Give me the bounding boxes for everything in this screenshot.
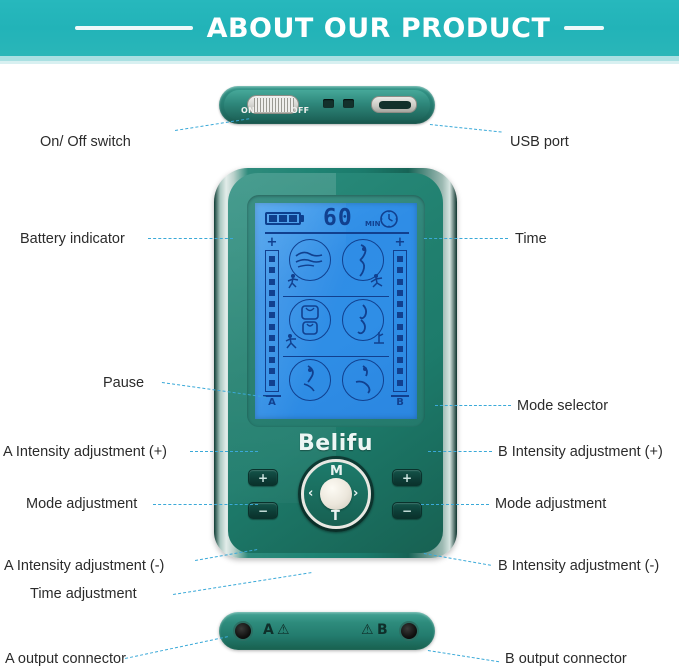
intensity-segment bbox=[397, 312, 403, 318]
intensity-segment bbox=[397, 357, 403, 363]
b-intensity-plus-button[interactable]: + bbox=[392, 469, 422, 486]
intensity-bar-b: + B bbox=[389, 237, 411, 413]
intensity-segment bbox=[397, 335, 403, 341]
callout-time: Time bbox=[515, 231, 547, 247]
header-rule-right bbox=[564, 26, 604, 30]
leader-b-intensity-plus bbox=[428, 451, 492, 452]
callout-mode-adjustment-right: Mode adjustment bbox=[495, 496, 606, 512]
battery-segment bbox=[269, 215, 277, 222]
battery-indicator bbox=[265, 212, 301, 225]
mode-cell-massage-cup bbox=[285, 299, 333, 347]
page-header: ABOUT OUR PRODUCT bbox=[0, 0, 679, 56]
mode-cell-massage-ear bbox=[285, 359, 333, 407]
mode-cell-massage-shiatsu bbox=[338, 299, 386, 347]
callout-mode-adjustment-left: Mode adjustment bbox=[26, 496, 137, 512]
intensity-segment bbox=[269, 312, 275, 318]
b-output-connector[interactable] bbox=[399, 621, 419, 641]
intensity-segment bbox=[397, 290, 403, 296]
leader-time-adjustment bbox=[173, 572, 311, 595]
intensity-segment bbox=[269, 267, 275, 273]
usb-port[interactable] bbox=[371, 96, 417, 113]
callout-usb-port: USB port bbox=[510, 134, 569, 150]
intensity-segment bbox=[269, 335, 275, 341]
intensity-segment bbox=[269, 301, 275, 307]
mode-figure-icon bbox=[285, 273, 301, 289]
callout-a-intensity-plus: A Intensity adjustment (+) bbox=[3, 444, 167, 460]
switch-on-label: ON bbox=[241, 106, 255, 115]
a-connector-label: A bbox=[263, 623, 274, 637]
battery-segment bbox=[289, 215, 297, 222]
intensity-a-column bbox=[265, 250, 279, 392]
callout-battery-indicator: Battery indicator bbox=[20, 231, 125, 247]
callout-a-intensity-minus: A Intensity adjustment (-) bbox=[4, 558, 164, 574]
callout-time-adjustment: Time adjustment bbox=[30, 586, 137, 602]
dpad-mode-key[interactable]: M bbox=[330, 465, 343, 478]
lcd-screen: 60 MIN + bbox=[255, 203, 417, 419]
mode-icon-massage-scrape bbox=[342, 359, 384, 401]
device-main-body: 60 MIN + bbox=[214, 168, 457, 558]
warning-icon-a: ⚠ bbox=[277, 623, 290, 637]
dpad-center-button[interactable] bbox=[320, 478, 352, 510]
leader-mode-selector bbox=[435, 405, 511, 406]
leader-a-output-connector bbox=[125, 636, 228, 659]
switch-ridges bbox=[254, 98, 294, 112]
intensity-segment bbox=[397, 346, 403, 352]
mode-cell-massage-scrape bbox=[338, 359, 386, 407]
intensity-segment bbox=[397, 324, 403, 330]
intensity-segment bbox=[269, 346, 275, 352]
b-intensity-minus-button[interactable]: − bbox=[392, 502, 422, 519]
callout-pause: Pause bbox=[103, 375, 144, 391]
warning-icon-b: ⚠ bbox=[361, 623, 374, 637]
intensity-segment bbox=[397, 256, 403, 262]
intensity-segment bbox=[269, 357, 275, 363]
mode-icon-massage-ear bbox=[289, 359, 331, 401]
time-value: 60 bbox=[323, 207, 353, 230]
intensity-segment bbox=[397, 380, 403, 386]
intensity-b-label: B bbox=[389, 397, 411, 408]
intensity-b-column bbox=[393, 250, 407, 392]
callout-mode-selector: Mode selector bbox=[517, 398, 608, 414]
intensity-segment bbox=[269, 279, 275, 285]
mode-row bbox=[283, 356, 389, 416]
callout-b-output-connector: B output connector bbox=[505, 651, 627, 667]
device-top-edge: ON OFF bbox=[219, 86, 435, 124]
intensity-segment bbox=[269, 368, 275, 374]
leader-b-output-connector bbox=[428, 650, 499, 662]
battery-segment bbox=[279, 215, 287, 222]
callout-a-output-connector: A output connector bbox=[5, 651, 126, 667]
mode-figure-icon bbox=[372, 331, 386, 347]
leader-mode-adjustment-right bbox=[421, 504, 489, 505]
intensity-segment bbox=[397, 279, 403, 285]
intensity-segment bbox=[397, 368, 403, 374]
dpad-control[interactable]: M T ‹ › bbox=[298, 456, 374, 532]
mode-grid bbox=[283, 237, 389, 415]
device-bottom-edge: A ⚠ ⚠ B bbox=[219, 612, 435, 650]
mode-figure-icon bbox=[370, 273, 386, 289]
leader-time bbox=[424, 238, 508, 239]
intensity-b-plus: + bbox=[389, 237, 411, 248]
lcd-status-divider bbox=[265, 232, 409, 234]
dpad-time-key[interactable]: T bbox=[331, 510, 340, 523]
mode-row bbox=[283, 296, 389, 356]
callout-b-intensity-minus: B Intensity adjustment (-) bbox=[498, 558, 659, 574]
leader-b-intensity-minus bbox=[424, 553, 491, 566]
lcd-status-row: 60 MIN bbox=[261, 208, 411, 234]
intensity-a-label: A bbox=[261, 397, 283, 408]
intensity-bar-a: + A bbox=[261, 237, 283, 413]
mode-cell-massage-knead bbox=[285, 239, 333, 287]
leader-battery-indicator bbox=[148, 238, 233, 239]
battery-cap bbox=[301, 215, 304, 222]
callout-on-off-switch: On/ Off switch bbox=[40, 134, 131, 150]
intensity-segment bbox=[269, 290, 275, 296]
dpad-right-key[interactable]: › bbox=[353, 487, 358, 500]
clock-icon bbox=[379, 209, 399, 229]
usb-port-hole bbox=[379, 101, 411, 109]
mode-cell-massage-tap bbox=[338, 239, 386, 287]
intensity-segment bbox=[397, 267, 403, 273]
a-intensity-plus-button[interactable]: + bbox=[248, 469, 278, 486]
intensity-segment bbox=[397, 301, 403, 307]
intensity-segment bbox=[269, 256, 275, 262]
header-accent-strip-light bbox=[0, 61, 679, 64]
callout-b-intensity-plus: B Intensity adjustment (+) bbox=[498, 444, 663, 460]
mode-row bbox=[283, 237, 389, 296]
leader-mode-adjustment-left bbox=[153, 504, 258, 505]
header-rule-left bbox=[75, 26, 193, 30]
indicator-slot-1 bbox=[323, 99, 334, 108]
leader-on-off-switch bbox=[175, 118, 249, 131]
indicator-slot-2 bbox=[343, 99, 354, 108]
dpad-left-key[interactable]: ‹ bbox=[308, 487, 313, 500]
leader-usb-port bbox=[430, 124, 502, 133]
page-title: ABOUT OUR PRODUCT bbox=[207, 13, 551, 44]
intensity-a-plus: + bbox=[261, 237, 283, 248]
b-connector-label: B bbox=[377, 623, 388, 637]
leader-a-intensity-plus bbox=[190, 451, 258, 452]
intensity-segment bbox=[269, 380, 275, 386]
intensity-segment bbox=[269, 324, 275, 330]
switch-off-label: OFF bbox=[291, 106, 309, 115]
brand-logo: Belifu bbox=[214, 431, 457, 456]
a-output-connector[interactable] bbox=[233, 621, 253, 641]
mode-figure-icon bbox=[285, 333, 301, 349]
